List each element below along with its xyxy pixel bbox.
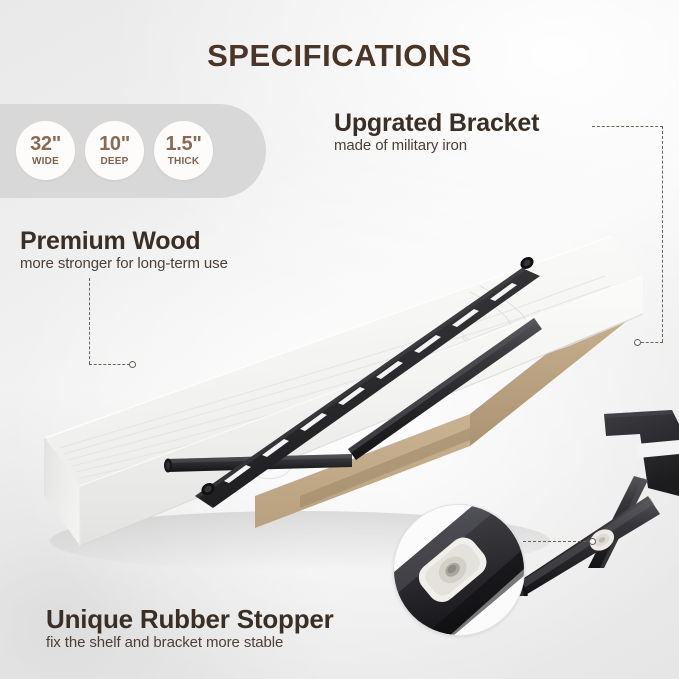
rubber-stopper-magnifier: [393, 504, 525, 636]
callout-heading: Upgrated Bracket: [334, 110, 539, 136]
bracket-leader-top: [592, 126, 663, 127]
bracket-leader-endpoint: [634, 339, 641, 346]
bracket-leader-bottom: [641, 342, 663, 343]
callout-upgraded-bracket: Upgrated Bracket made of military iron: [334, 110, 539, 155]
page-title: SPECIFICATIONS: [0, 38, 679, 74]
stopper-leader: [523, 541, 591, 542]
spec-badge-group: 32" WIDE 10" DEEP 1.5" THICK: [16, 110, 266, 192]
spec-badge-value: 1.5": [165, 134, 201, 154]
callout-subtext: fix the shelf and bracket more stable: [46, 635, 334, 652]
bracket-leader-vertical: [662, 126, 663, 342]
bracket-rod-end-left-inner: [166, 462, 170, 470]
wood-leader-horizontal: [89, 364, 130, 365]
callout-subtext: made of military iron: [334, 138, 539, 155]
spec-badge-value: 10": [99, 134, 130, 154]
wood-leader-endpoint: [129, 361, 136, 368]
spec-badge-wide: 32" WIDE: [16, 121, 75, 180]
callout-heading: Premium Wood: [20, 228, 228, 254]
magnifier-content: [394, 505, 525, 636]
stopper-leader-endpoint: [589, 538, 596, 545]
spec-badge-value: 32": [30, 134, 61, 154]
callout-premium-wood: Premium Wood more stronger for long-term…: [20, 228, 228, 273]
spec-badge-label: WIDE: [32, 157, 59, 167]
spec-badge-thick: 1.5" THICK: [154, 121, 213, 180]
wood-leader-vertical: [89, 278, 90, 364]
spec-badge-deep: 10" DEEP: [85, 121, 144, 180]
callout-subtext: more stronger for long-term use: [20, 256, 228, 273]
infographic-canvas: SPECIFICATIONS 32" WIDE 10" DEEP 1.5" TH…: [0, 0, 679, 679]
callout-rubber-stopper: Unique Rubber Stopper fix the shelf and …: [46, 606, 334, 652]
spec-badge-label: DEEP: [100, 157, 128, 167]
callout-heading: Unique Rubber Stopper: [46, 606, 334, 633]
spec-badge-label: THICK: [168, 157, 200, 167]
